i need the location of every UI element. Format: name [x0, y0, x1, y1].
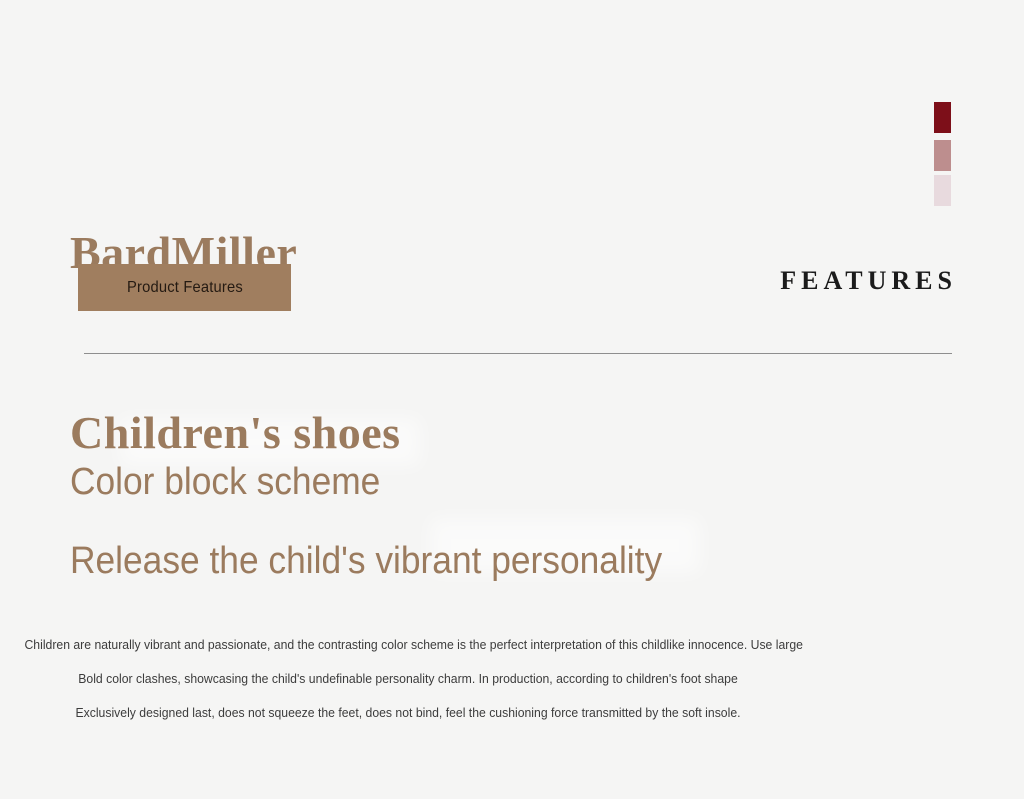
body-paragraph: Children are naturally vibrant and passi…	[0, 628, 816, 730]
slide-canvas: BardMiller Children's shoes Product Feat…	[0, 0, 1024, 799]
section-label-features: FEATURES	[780, 266, 957, 296]
color-swatch-stack	[934, 102, 951, 204]
heading-color-block-scheme: Color block scheme	[70, 458, 870, 506]
color-swatch-dark-red	[934, 102, 951, 133]
brand-title-line-2: Children's shoes	[70, 403, 401, 463]
color-swatch-muted-rose	[934, 140, 951, 171]
color-swatch-pale-pink	[934, 175, 951, 206]
horizontal-divider	[84, 353, 952, 354]
heading-block: Color block scheme Release the child's v…	[70, 458, 930, 585]
product-features-button[interactable]: Product Features	[78, 264, 291, 311]
product-features-button-label: Product Features	[127, 279, 243, 297]
body-paragraph-line-2: Bold color clashes, showcasing the child…	[24, 662, 791, 696]
body-paragraph-line-1: Children are naturally vibrant and passi…	[24, 628, 791, 662]
body-paragraph-line-3: Exclusively designed last, does not sque…	[24, 696, 791, 730]
heading-release-personality: Release the child's vibrant personality	[70, 537, 870, 585]
